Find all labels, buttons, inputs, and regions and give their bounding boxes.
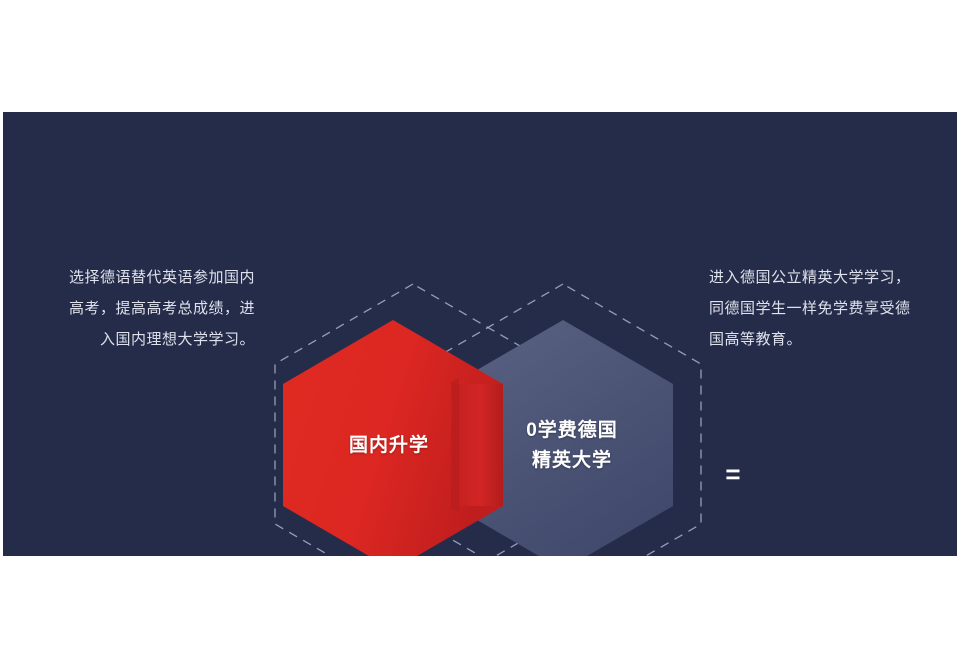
blue-hexagon-label: 0学费德国 精英大学 (491, 416, 653, 476)
equals-icon: = (711, 462, 755, 486)
slide-page: 选择德语替代英语参加国内高考，提高高考总成绩，进入国内理想大学学习。 进入德国公… (0, 0, 960, 671)
dark-slide-panel: 选择德语替代英语参加国内高考，提高高考总成绩，进入国内理想大学学习。 进入德国公… (3, 112, 957, 556)
blue-hexagon-label-line-1: 0学费德国 (491, 416, 653, 446)
red-hexagon-label: 国内升学 (309, 434, 469, 458)
right-description-text: 进入德国公立精英大学学习，同德国学生一样免学费享受德国高等教育。 (709, 262, 913, 355)
left-description-text: 选择德语替代英语参加国内高考，提高高考总成绩，进入国内理想大学学习。 (59, 262, 255, 355)
blue-hexagon-label-line-2: 精英大学 (491, 446, 653, 476)
